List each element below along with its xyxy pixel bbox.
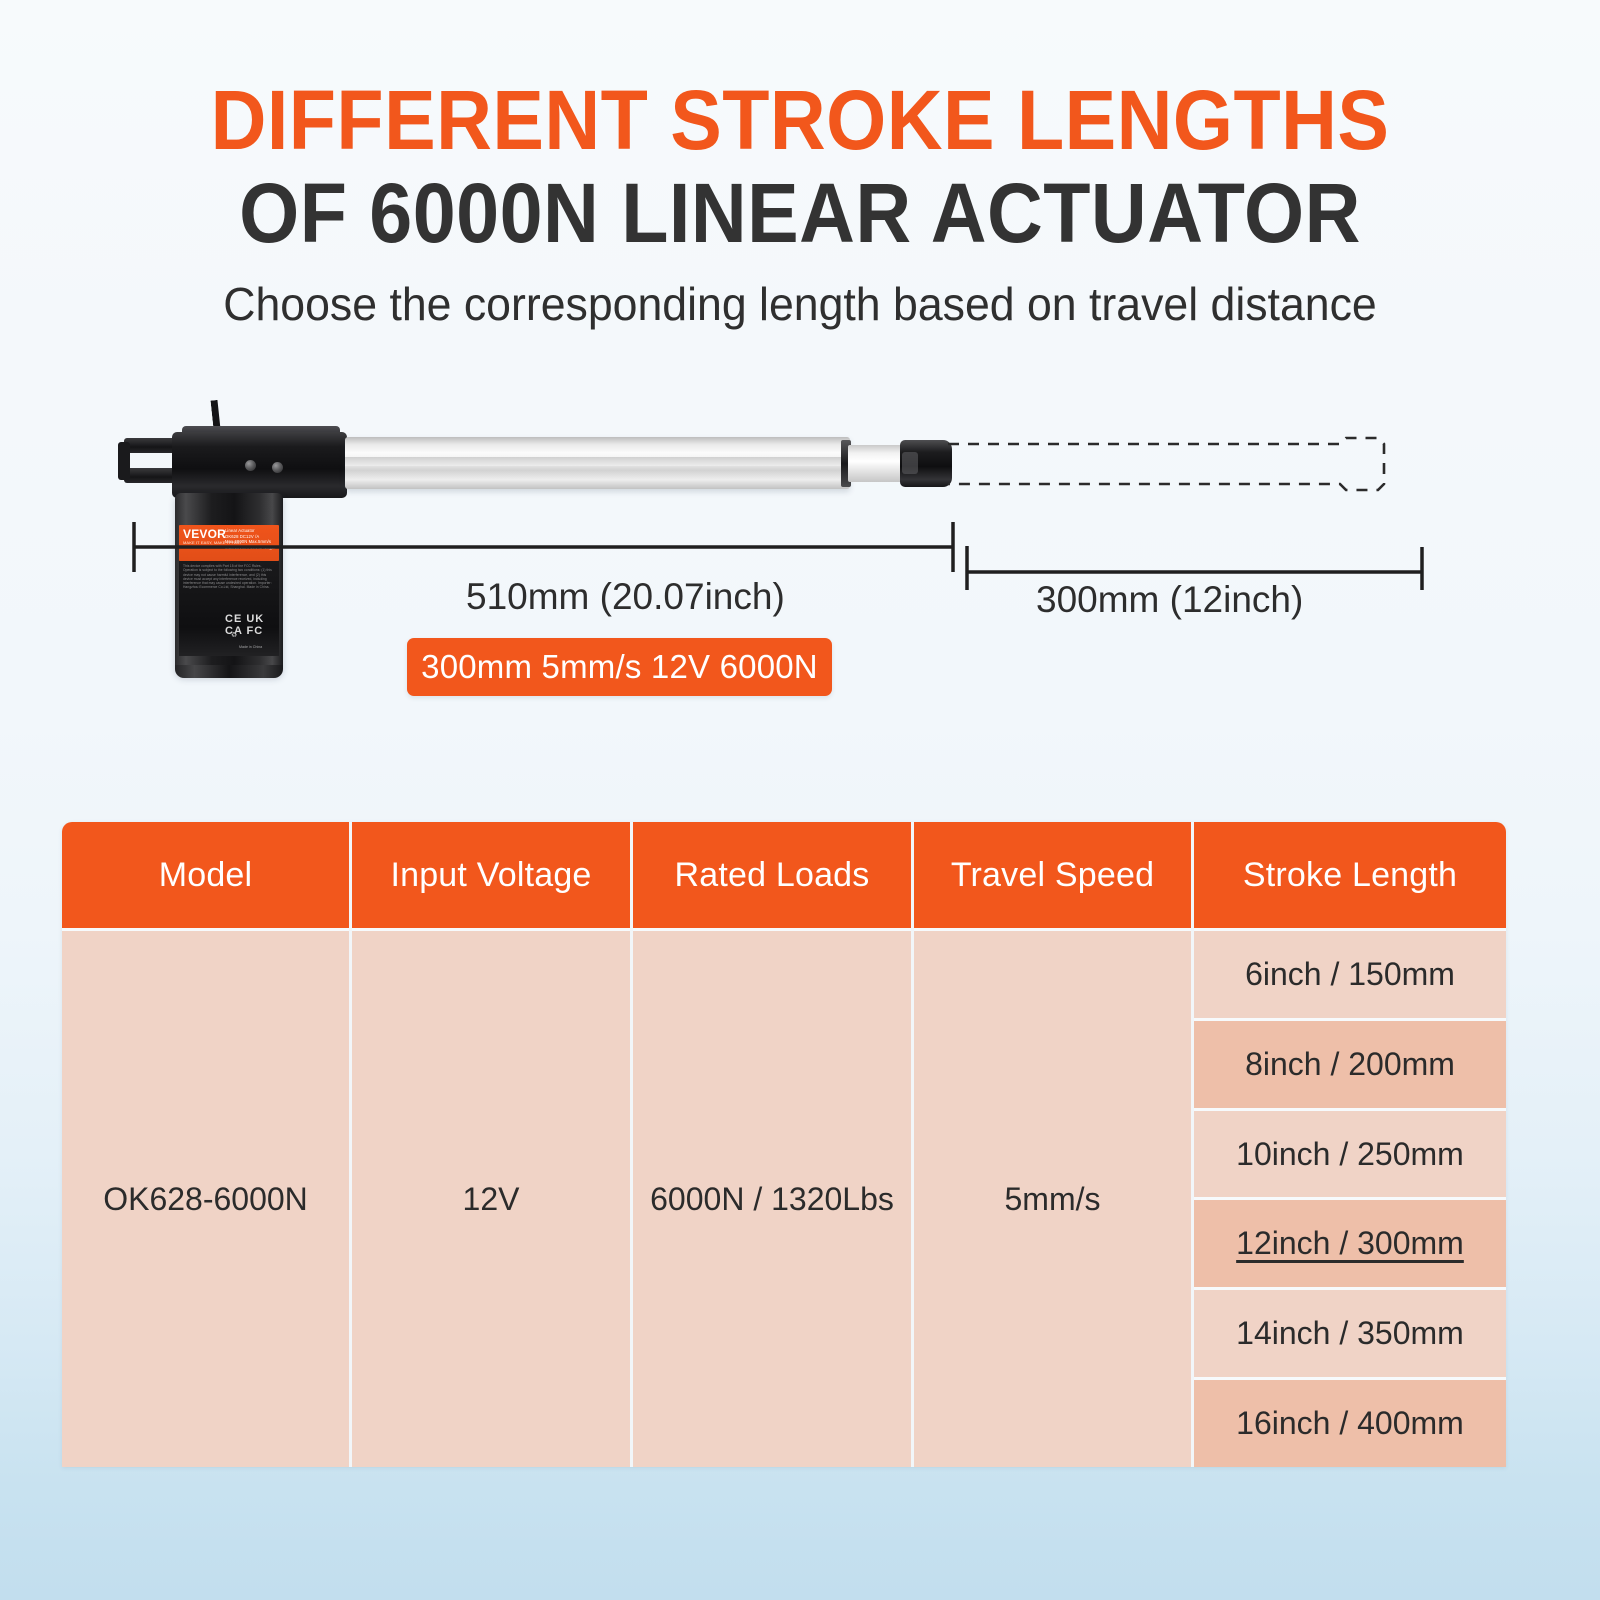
cell-model-value: OK628-6000N: [62, 928, 349, 1467]
stroke-option-label: 10inch / 250mm: [1236, 1136, 1464, 1173]
motor-end-cap: [175, 665, 283, 678]
table-column-model: Model OK628-6000N: [62, 822, 352, 1467]
stroke-option-label: 14inch / 350mm: [1236, 1315, 1464, 1352]
dimension-annotations: 510mm (20.07inch) 300mm (12inch): [0, 390, 1600, 650]
stroke-option-8inch[interactable]: 8inch / 200mm: [1194, 1021, 1506, 1111]
column-header-stroke-length: Stroke Length: [1194, 822, 1506, 928]
title-line-primary: DIFFERENT STROKE LENGTHS: [64, 74, 1536, 166]
table-column-travel-speed: Travel Speed 5mm/s: [914, 822, 1194, 1467]
stroke-option-label: 12inch / 300mm: [1236, 1225, 1464, 1262]
stroke-option-16inch[interactable]: 16inch / 400mm: [1194, 1380, 1506, 1467]
stroke-option-label: 16inch / 400mm: [1236, 1405, 1464, 1442]
column-header-model: Model: [62, 822, 349, 928]
cell-rated-loads-value: 6000N / 1320Lbs: [633, 928, 911, 1467]
stroke-option-label: 6inch / 150mm: [1245, 956, 1455, 993]
column-header-input-voltage: Input Voltage: [352, 822, 630, 928]
table-column-rated-loads: Rated Loads 6000N / 1320Lbs: [633, 822, 914, 1467]
cell-travel-speed-value: 5mm/s: [914, 928, 1191, 1467]
stroke-option-10inch[interactable]: 10inch / 250mm: [1194, 1111, 1506, 1201]
title-line-secondary: OF 6000N LINEAR ACTUATOR: [64, 166, 1536, 260]
table-column-input-voltage: Input Voltage 12V: [352, 822, 633, 1467]
stroke-length-option-list: 6inch / 150mm 8inch / 200mm 10inch / 250…: [1194, 928, 1506, 1467]
column-header-rated-loads: Rated Loads: [633, 822, 911, 928]
cell-input-voltage-value: 12V: [352, 928, 630, 1467]
page-subtitle: Choose the corresponding length based on…: [24, 276, 1576, 332]
specification-table: Model OK628-6000N Input Voltage 12V Rate…: [62, 822, 1506, 1467]
table-column-stroke-length: Stroke Length 6inch / 150mm 8inch / 200m…: [1194, 822, 1506, 1467]
page-header: DIFFERENT STROKE LENGTHS OF 6000N LINEAR…: [0, 0, 1600, 332]
stroke-option-6inch[interactable]: 6inch / 150mm: [1194, 931, 1506, 1021]
stroke-option-label: 8inch / 200mm: [1245, 1046, 1455, 1083]
stroke-option-12inch-selected[interactable]: 12inch / 300mm: [1194, 1200, 1506, 1290]
column-header-travel-speed: Travel Speed: [914, 822, 1191, 928]
stroke-length-label: 300mm (12inch): [1036, 578, 1303, 622]
retracted-length-label: 510mm (20.07inch): [466, 575, 785, 619]
dimension-lines-icon: [0, 390, 1600, 650]
spec-summary-badge: 300mm 5mm/s 12V 6000N: [407, 638, 832, 696]
stroke-option-14inch[interactable]: 14inch / 350mm: [1194, 1290, 1506, 1380]
